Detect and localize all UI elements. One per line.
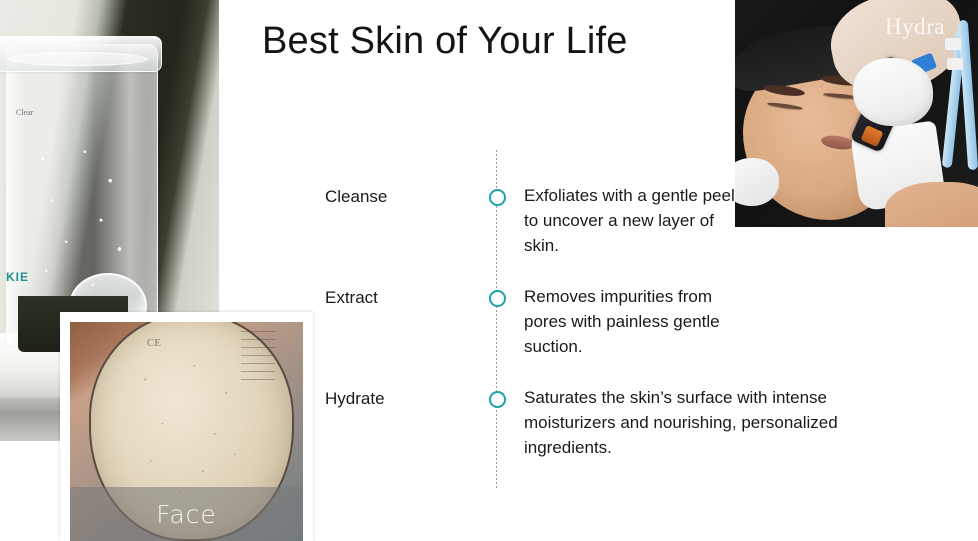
page-title: Best Skin of Your Life <box>262 18 682 66</box>
photo-treatment: Hydra <box>735 0 978 227</box>
photo-face-image: CE Face <box>70 322 303 541</box>
step-label-cleanse: Cleanse <box>325 186 475 209</box>
step-label-extract: Extract <box>325 287 475 310</box>
beaker-scale-ticks <box>241 331 275 385</box>
step-description-cleanse: Exfoliates with a gentle peel to uncover… <box>524 183 736 258</box>
step-description-hydrate: Saturates the skin’s surface with intens… <box>524 385 854 460</box>
step-description-extract: Removes impurities from pores with painl… <box>524 284 756 359</box>
step-label-hydrate: Hydrate <box>325 388 475 411</box>
photo-face-caption-bar: Face <box>70 487 303 541</box>
circle-outline-icon <box>489 391 506 408</box>
treatment-clip-two <box>947 58 963 70</box>
canister-lip <box>8 52 148 66</box>
canister-brand-text: KIE <box>6 270 29 284</box>
treatment-clip-one <box>945 38 961 50</box>
photo-face-card[interactable]: CE Face <box>60 312 313 541</box>
ce-mark-text: CE <box>147 337 161 349</box>
treatment-watermark: Hydra <box>885 14 945 40</box>
slide-canvas: Clear KIE CE Face <box>0 0 978 541</box>
photo-face-caption: Face <box>156 500 217 529</box>
canister-small-text: Clear <box>16 108 33 117</box>
circle-outline-icon <box>489 290 506 307</box>
circle-outline-icon <box>489 189 506 206</box>
treatment-glove-hand <box>853 58 933 126</box>
